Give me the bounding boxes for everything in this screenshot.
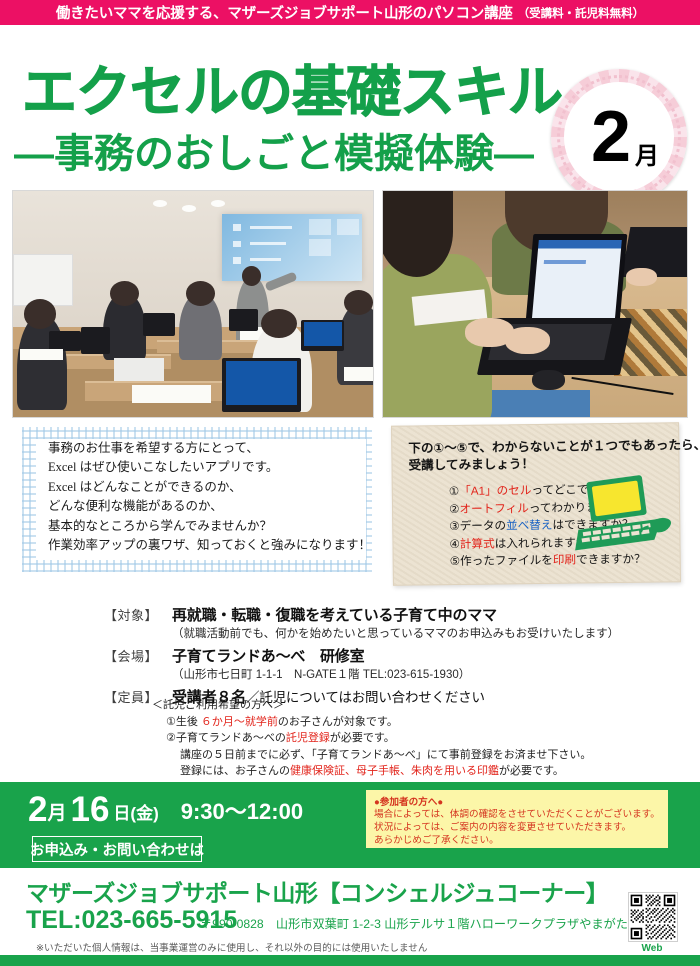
month-badge-unit: 月 — [635, 145, 659, 169]
participant-note-line-1: 場合によっては、体調の確認をさせていただくことがございます。 — [374, 809, 660, 822]
detail-sub-venue: （山形市七日町 1-1-1 N-GATE１階 TEL:023-615-1930） — [172, 666, 700, 684]
schedule-time: 9:30～12:00 — [181, 799, 303, 824]
checklist-item-number: ③ — [449, 520, 460, 533]
detail-key-venue: 【会場】 — [104, 646, 172, 665]
middle-info-section: 事務のお仕事を希望する方にとって、 Excel はぜひ使いこなしたいアプリです。… — [0, 424, 700, 606]
qr-code-label: Web — [628, 943, 676, 954]
childcare-notice-sub-2: 登録には、お子さんの健康保険証、母子手帳、朱肉を用いる印鑑が必要です。 — [180, 763, 672, 780]
footer-organization: マザーズジョブサポート山形【コンシェルジュコーナー】 — [26, 874, 608, 908]
apply-label-box: お申込み・お問い合わせは — [32, 836, 202, 862]
intro-line-3: Excel はどんなことができるのか、 — [48, 478, 362, 497]
checklist-item-number: ② — [449, 502, 460, 515]
intro-text-box: 事務のお仕事を希望する方にとって、 Excel はぜひ使いこなしたいアプリです。… — [22, 427, 372, 572]
page-subtitle: ―事務のおしごと模擬体験― — [14, 121, 534, 179]
checklist-box: 下の①～⑤で、わからないことが１つでもあったら、 受講してみましょう！ ①「A1… — [391, 422, 681, 586]
checklist-item-text: 並べ替え — [506, 519, 553, 533]
schedule-band: 2月16日(金)9:30～12:00 お申込み・お問い合わせは ●参加者の方へ●… — [0, 782, 700, 868]
checklist-heading-line-1: 下の①～⑤で、わからないことが１つでもあったら、 — [408, 437, 668, 457]
intro-line-1: 事務のお仕事を希望する方にとって、 — [48, 439, 362, 458]
detail-value-target: 再就職・転職・復職を考えている子育て中のママ — [172, 604, 497, 625]
event-details: 【対象】 再就職・転職・復職を考えている子育て中のママ （就職活動前でも、何かを… — [0, 604, 700, 707]
checklist-item-number: ④ — [449, 537, 460, 550]
top-banner: 働きたいママを応援する、マザーズジョブサポート山形のパソコン講座 （受講料・託児… — [0, 0, 700, 25]
detail-row-venue: 【会場】 子育てランドあ～べ 研修室 — [0, 645, 700, 666]
childcare-notice-head: ＜託児ご利用希望の方へ＞ — [152, 697, 672, 714]
participant-note-head: ●参加者の方へ● — [374, 796, 660, 809]
childcare-notice: ＜託児ご利用希望の方へ＞ ①生後 ６か月～就学前のお子さんが対象です。 ②子育て… — [152, 697, 672, 780]
childcare-notice-item-1: ①生後 ６か月～就学前のお子さんが対象です。 — [166, 714, 672, 731]
childcare-notice-sub-1: 講座の５日前までに必ず、「子育てランドあ～べ」にて事前登録をお済ませ下さい。 — [180, 747, 672, 764]
participant-note-line-2: 状況によっては、ご案内の内容を変更させていただきます。 — [374, 822, 660, 835]
apply-label-text: お申込み・お問い合わせは — [30, 839, 204, 860]
schedule-day-unit: 日(金) — [113, 804, 158, 823]
schedule-date-line: 2月16日(金)9:30～12:00 — [28, 790, 303, 830]
checklist-item-text: 計算式 — [460, 537, 495, 550]
intro-line-2: Excel はぜひ使いこなしたいアプリです。 — [48, 458, 362, 477]
detail-value-venue: 子育てランドあ～べ 研修室 — [172, 645, 364, 666]
checklist-item-text: オートフィル — [459, 502, 528, 516]
intro-line-6: 作業効率アップの裏ワザ、知っておくと強みになります！ — [48, 536, 362, 555]
top-banner-main-text: 働きたいママを応援する、マザーズジョブサポート山形のパソコン講座 — [56, 2, 513, 23]
intro-text-lines: 事務のお仕事を希望する方にとって、 Excel はぜひ使いこなしたいアプリです。… — [48, 439, 362, 555]
laptop-icon — [569, 471, 674, 564]
checklist-item-text: 作ったファイルを — [460, 554, 553, 568]
participant-note-box: ●参加者の方へ● 場合によっては、体調の確認をさせていただくことがございます。 … — [366, 790, 668, 848]
poster-root: 働きたいママを応援する、マザーズジョブサポート山形のパソコン講座 （受講料・託児… — [0, 0, 700, 966]
footer-privacy-note: ※いただいた個人情報は、当事業運営のみに使用し、それ以外の目的には使用いたしませ… — [36, 940, 428, 954]
schedule-day: 16 — [70, 790, 109, 829]
bottom-green-bar — [0, 955, 700, 966]
schedule-month: 2 — [28, 790, 47, 829]
checklist-item-text: データの — [460, 519, 507, 533]
intro-line-5: 基本的なところから学んでみませんか？ — [48, 517, 362, 536]
participant-note-line-3: あらかじめご了承ください。 — [374, 835, 660, 848]
checklist-item-text: 「A1」のセル — [459, 484, 531, 498]
month-badge-number: 2 — [551, 69, 687, 205]
footer-contact: マザーズジョブサポート山形【コンシェルジュコーナー】 TEL:023-665-5… — [0, 868, 700, 966]
title-block: エクセルの基礎スキル ―事務のおしごと模擬体験― 2 月 — [0, 25, 700, 185]
intro-line-4: どんな便利な機能があるのか、 — [48, 497, 362, 516]
photo-classroom — [12, 190, 374, 418]
top-banner-sub-text: （受講料・託児料無料） — [518, 5, 645, 21]
photo-laptop-hands — [382, 190, 688, 418]
checklist-item-number: ① — [449, 485, 460, 498]
detail-row-target: 【対象】 再就職・転職・復職を考えている子育て中のママ — [0, 604, 700, 625]
page-title: エクセルの基礎スキル — [22, 47, 562, 127]
schedule-month-unit: 月 — [47, 803, 66, 824]
month-badge: 2 月 — [551, 69, 687, 205]
whiteboard-shape — [13, 254, 73, 306]
photo-strip — [12, 190, 688, 418]
footer-address: 〒990-0828 山形市双葉町 1-2-3 山形テルサ１階ハローワークプラザや… — [200, 914, 640, 932]
detail-key-target: 【対象】 — [104, 605, 172, 624]
detail-sub-target: （就職活動前でも、何かを始めたいと思っているママのお申込みもお受けいたします） — [172, 625, 700, 643]
childcare-notice-item-2: ②子育てランドあ～べの託児登録が必要です。 — [166, 730, 672, 747]
qr-code-icon[interactable] — [628, 892, 678, 942]
checklist-item-number: ⑤ — [450, 555, 461, 568]
